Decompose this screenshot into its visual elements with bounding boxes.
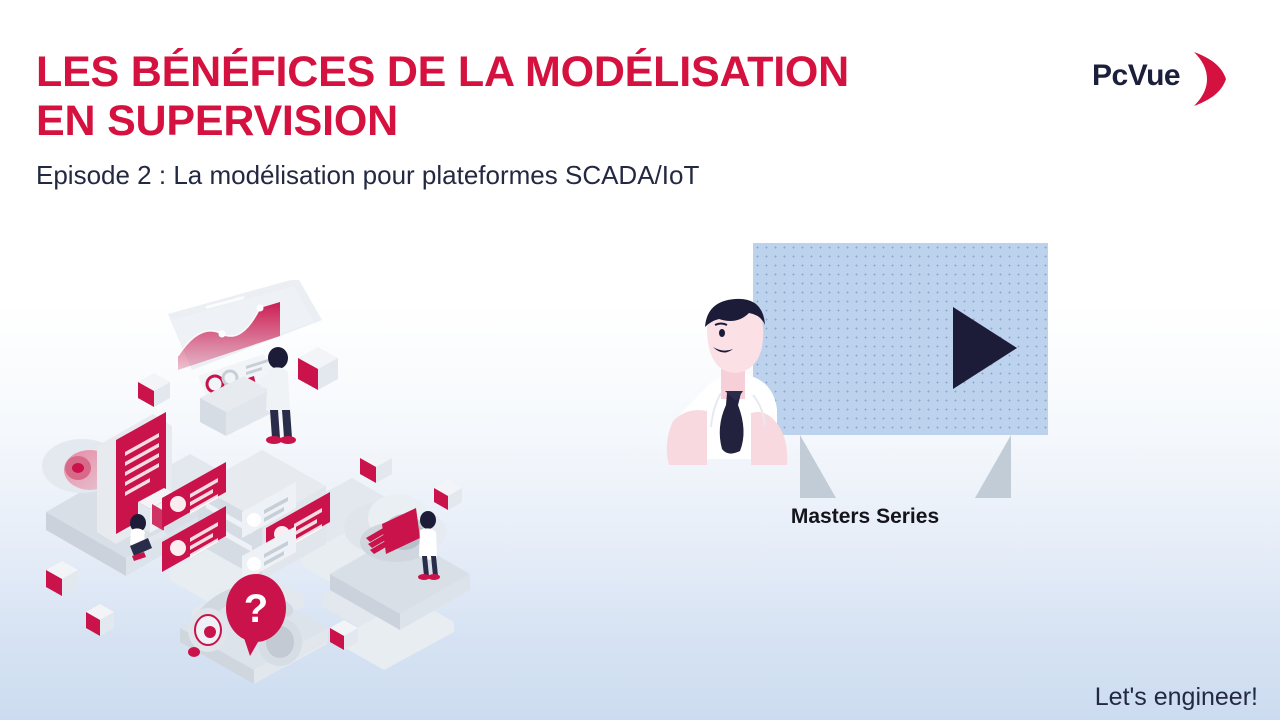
- presenter-person-icon: [665, 295, 815, 470]
- play-triangle-icon[interactable]: [953, 307, 1017, 389]
- slide-canvas: LES BÉNÉFICES DE LA MODÉLISATION EN SUPE…: [0, 0, 1280, 720]
- page-title: LES BÉNÉFICES DE LA MODÉLISATION EN SUPE…: [36, 48, 1056, 146]
- isometric-illustration: ?: [30, 280, 510, 700]
- masters-series-label: Masters Series: [665, 505, 1065, 529]
- pcvue-logo[interactable]: PcVue: [1092, 50, 1232, 108]
- logo-wordmark: PcVue: [1092, 59, 1180, 93]
- svg-text:?: ?: [244, 587, 268, 631]
- title-block: LES BÉNÉFICES DE LA MODÉLISATION EN SUPE…: [36, 48, 1056, 190]
- tagline: Let's engineer!: [1095, 683, 1258, 712]
- easel-leg-right-icon: [975, 435, 1011, 498]
- masters-series-video-card[interactable]: Masters Series: [665, 235, 1065, 535]
- chevron-right-icon: [1190, 50, 1230, 113]
- page-subtitle: Episode 2 : La modélisation pour platefo…: [36, 160, 1056, 190]
